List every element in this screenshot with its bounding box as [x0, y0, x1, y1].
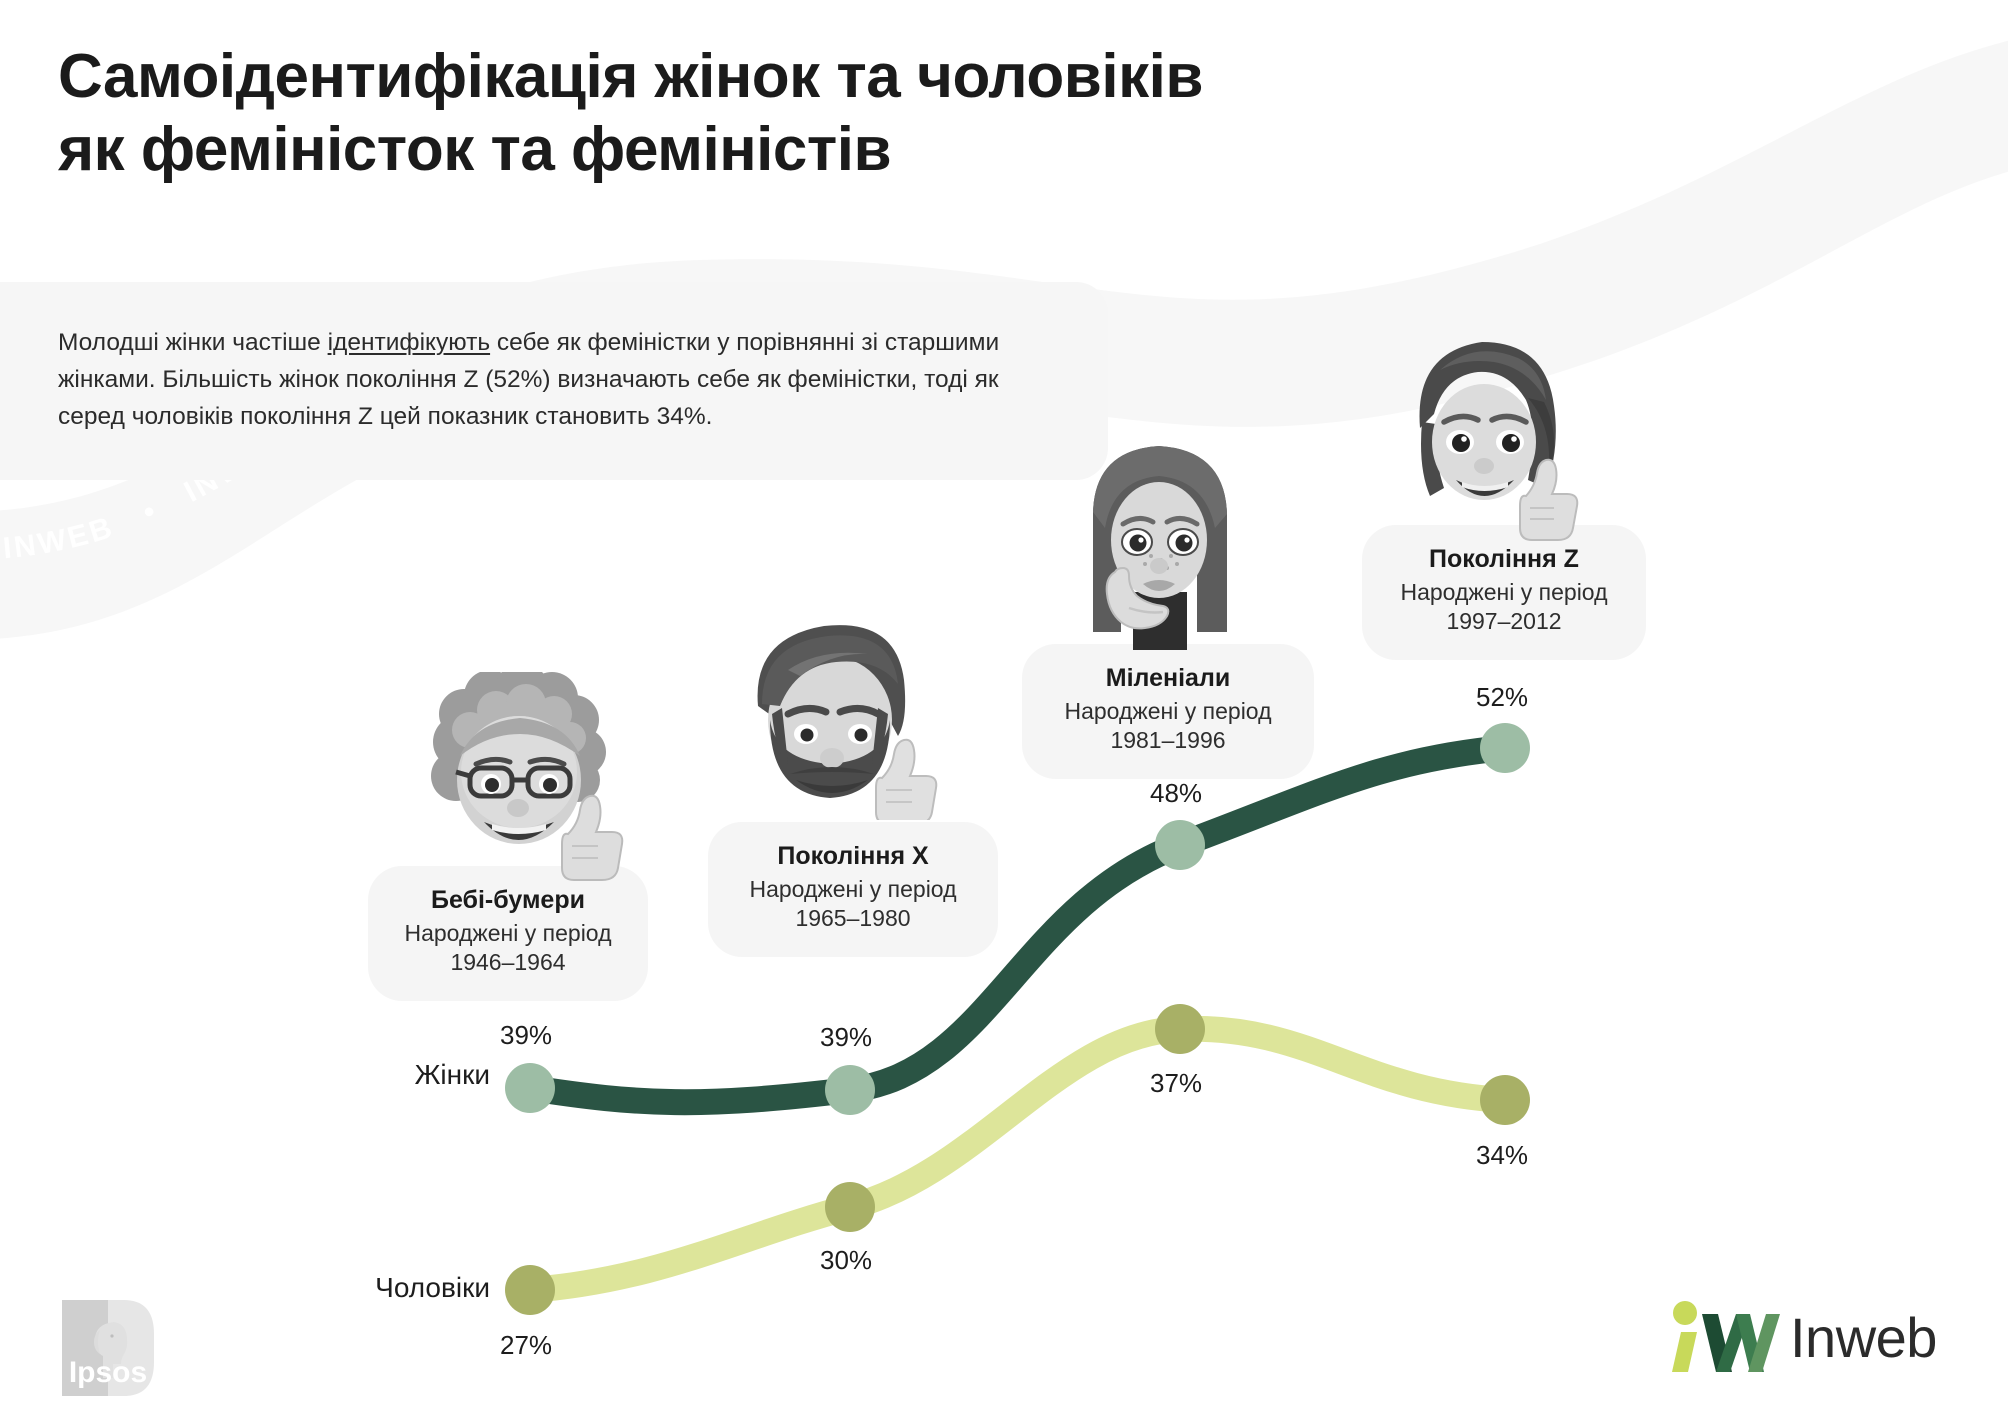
series-line-men	[530, 1029, 1505, 1290]
generation-period-line2-genx: 1965–1980	[742, 904, 964, 933]
data-point-men-1[interactable]	[825, 1182, 875, 1232]
bearded-man-thumbsup-avatar	[728, 610, 963, 820]
chart-area: Жінки Чоловіки 39% 39% 48% 52% 27% 30% 3…	[0, 0, 2008, 1410]
generation-name-millennials: Міленіали	[1056, 664, 1280, 693]
generation-period-line2-boomers: 1946–1964	[402, 948, 614, 977]
generation-card-genz: Покоління Z Народжені у період 1997–2012	[1362, 525, 1646, 660]
intro-text: Молодші жінки частіше ідентифікують себе…	[58, 324, 1048, 436]
generation-card-genx: Покоління X Народжені у період 1965–1980	[708, 822, 998, 957]
value-label-men-3: 34%	[1476, 1140, 1528, 1171]
ipsos-wordmark: Ipsos	[69, 1356, 147, 1389]
data-point-women-3[interactable]	[1480, 723, 1530, 773]
generation-period-line1-boomers: Народжені у період	[402, 919, 614, 948]
page-title-line-1: Самоідентифікація жінок та чоловіків	[58, 40, 1758, 113]
inweb-mark-icon	[1668, 1298, 1780, 1376]
data-point-women-0[interactable]	[505, 1063, 555, 1113]
generation-name-genz: Покоління Z	[1396, 545, 1612, 574]
series-line-women	[530, 748, 1505, 1102]
generation-period-line2-genz: 1997–2012	[1396, 607, 1612, 636]
inweb-wordmark: Inweb	[1790, 1305, 1937, 1370]
series-label-women: Жінки	[330, 1059, 490, 1091]
generation-card-boomers: Бебі-бумери Народжені у період 1946–1964	[368, 866, 648, 1001]
ipsos-logo: Ipsos	[62, 1300, 154, 1396]
data-point-men-0[interactable]	[505, 1265, 555, 1315]
value-label-men-0: 27%	[500, 1330, 552, 1361]
data-point-men-3[interactable]	[1480, 1075, 1530, 1125]
value-label-women-3: 52%	[1476, 682, 1528, 713]
generation-period-line1-millennials: Народжені у період	[1056, 697, 1280, 726]
value-label-women-1: 39%	[820, 1022, 872, 1053]
intro-card: Молодші жінки частіше ідентифікують себе…	[0, 282, 1108, 480]
generation-name-genx: Покоління X	[742, 842, 964, 871]
generation-period-line1-genx: Народжені у період	[742, 875, 964, 904]
value-label-men-2: 37%	[1150, 1068, 1202, 1099]
data-point-women-2[interactable]	[1155, 820, 1205, 870]
value-label-women-0: 39%	[500, 1020, 552, 1051]
inweb-logo: Inweb	[1668, 1298, 1937, 1376]
value-label-women-2: 48%	[1150, 778, 1202, 809]
data-point-men-2[interactable]	[1155, 1004, 1205, 1054]
value-label-men-1: 30%	[820, 1245, 872, 1276]
generation-period-line2-millennials: 1981–1996	[1056, 726, 1280, 755]
intro-text-underlined: ідентифікують	[328, 329, 490, 356]
intro-text-part1: Молодші жінки частіше	[58, 329, 328, 356]
page-title: Самоідентифікація жінок та чоловіків як …	[58, 40, 1758, 186]
generation-card-millennials: Міленіали Народжені у період 1981–1996	[1022, 644, 1314, 779]
generation-name-boomers: Бебі-бумери	[402, 886, 614, 915]
generation-period-line1-genz: Народжені у період	[1396, 578, 1612, 607]
page-title-line-2: як феміністок та феміністів	[58, 113, 1758, 186]
young-woman-thumbsup-avatar	[1378, 318, 1593, 543]
series-label-men: Чоловіки	[300, 1272, 490, 1304]
chart-lines-svg	[0, 0, 2008, 1410]
data-point-women-1[interactable]	[825, 1065, 875, 1115]
older-man-glasses-thumbsup-avatar	[400, 672, 640, 882]
